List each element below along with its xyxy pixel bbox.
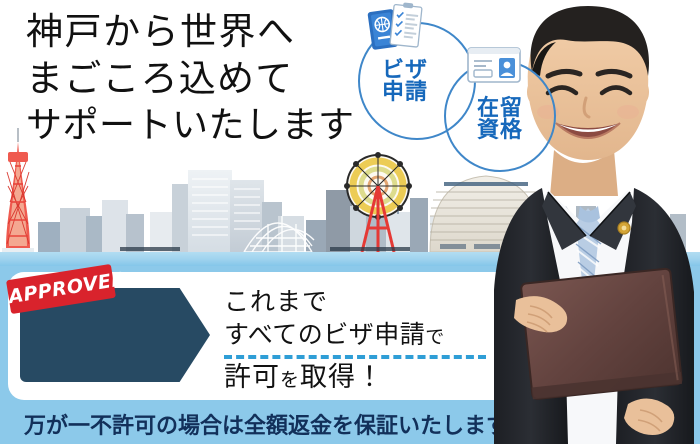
promise-line-3: 許可を取得！	[224, 361, 524, 397]
promise-line-2: すべてのビザ申請で	[224, 318, 524, 354]
promise-line-2-main: すべてのビザ申請	[224, 320, 425, 349]
headline-line-1: 神戸から世界へ	[26, 8, 416, 55]
headline-line-2: まごころ込めて	[26, 55, 416, 102]
headline: 神戸から世界へ まごころ込めて サポートいたします	[26, 8, 416, 149]
promise-line-3-particle: を	[280, 369, 300, 391]
guarantee-main: 万が一不許可の場合は全額返金を保証いたします	[24, 414, 508, 439]
circle-status-label: 在留 資格	[454, 98, 546, 143]
headline-line-3: サポートいたします	[26, 102, 416, 149]
id-card-icon	[466, 44, 522, 86]
promise-line-3-tail: 取得！	[300, 362, 384, 393]
promise-line-3-main: 許可	[224, 362, 280, 393]
visa-support-banner: 神戸から世界へ まごころ込めて サポートいたします ビザ 申請 在留 資格	[0, 0, 700, 444]
promise-dashed-underline	[224, 355, 486, 359]
promise-line-2-suffix: で	[425, 326, 445, 348]
promise-line-1: これまで	[224, 286, 524, 318]
promise-text-block: これまで すべてのビザ申請で 許可を取得！	[224, 286, 524, 397]
